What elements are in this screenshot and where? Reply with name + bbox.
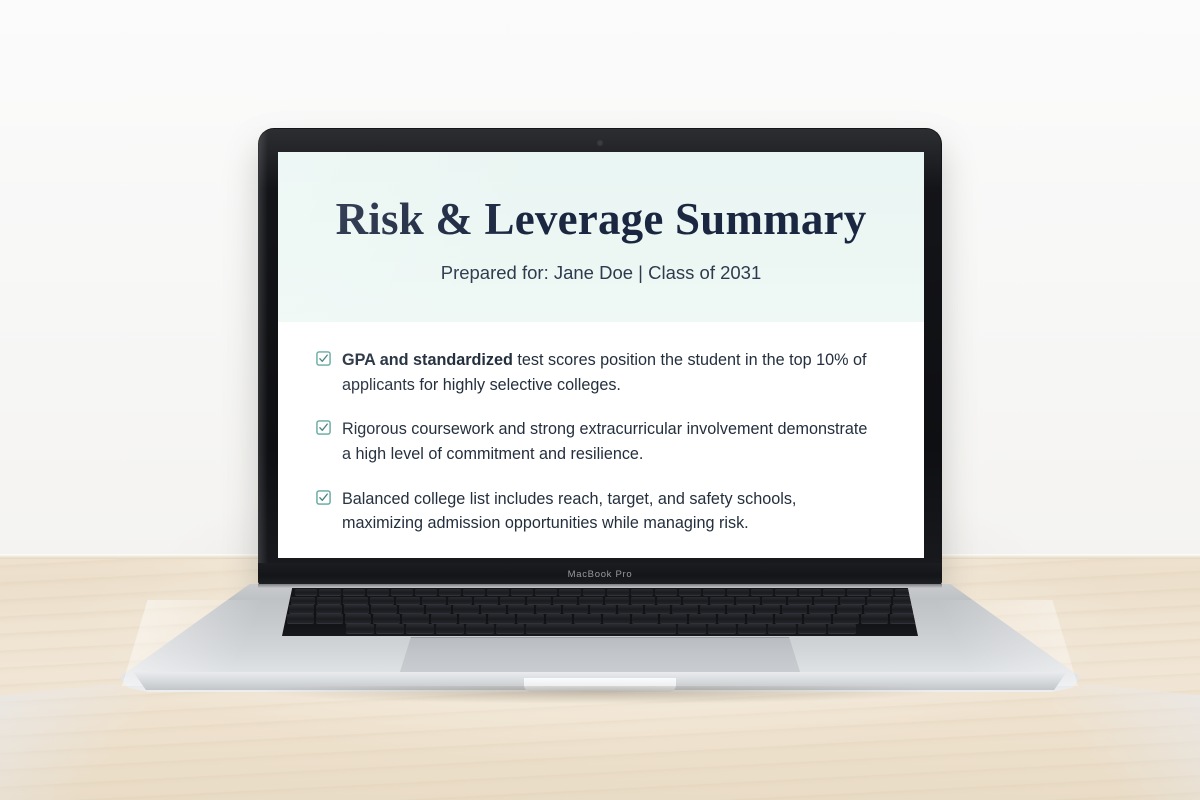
keyboard-key[interactable]: [689, 614, 716, 623]
keyboard-key[interactable]: [861, 614, 888, 623]
checkbox-checked-icon: [316, 490, 331, 505]
keyboard-key[interactable]: [436, 624, 464, 633]
keyboard-key[interactable]: [867, 597, 891, 605]
list-item-text: Balanced college list includes reach, ta…: [342, 487, 868, 536]
keyboard-key[interactable]: [508, 605, 533, 613]
keyboard-key[interactable]: [583, 589, 605, 595]
slide-header: Risk & Leverage Summary Prepared for: Ja…: [278, 152, 924, 322]
keyboard-key[interactable]: [700, 605, 725, 613]
keyboard-key[interactable]: [453, 605, 478, 613]
keyboard-key[interactable]: [710, 597, 734, 605]
keyboard-key[interactable]: [751, 589, 773, 595]
brand-label: MacBook Pro: [568, 569, 633, 580]
keyboard-key[interactable]: [718, 614, 745, 623]
keyboard-key[interactable]: [727, 589, 749, 595]
keyboard-key[interactable]: [463, 589, 485, 595]
keyboard-key[interactable]: [553, 597, 577, 605]
keyboard-key[interactable]: [672, 605, 697, 613]
keyboard[interactable]: [282, 588, 918, 636]
keyboard-key[interactable]: [590, 605, 615, 613]
keyboard-key[interactable]: [291, 597, 315, 605]
keyboard-key[interactable]: [736, 597, 760, 605]
keyboard-key[interactable]: [474, 597, 498, 605]
keyboard-key[interactable]: [399, 605, 424, 613]
keyboard-key[interactable]: [517, 614, 544, 623]
laptop-presentation-scene: Risk & Leverage Summary Prepared for: Ja…: [0, 0, 1200, 800]
keyboard-key[interactable]: [511, 589, 533, 595]
keyboard-key[interactable]: [536, 605, 561, 613]
slide-bullet-list: GPA and standardized test scores positio…: [278, 322, 924, 558]
keyboard-key[interactable]: [788, 597, 812, 605]
keyboard-row: [282, 605, 918, 613]
keyboard-key[interactable]: [738, 624, 766, 633]
list-item: GPA and standardized test scores positio…: [316, 348, 868, 397]
keyboard-key[interactable]: [823, 589, 845, 595]
list-item-text: GPA and standardized test scores positio…: [342, 348, 868, 397]
keyboard-key[interactable]: [346, 624, 374, 633]
keyboard-key[interactable]: [804, 614, 831, 623]
list-item: Rigorous coursework and strong extracurr…: [316, 417, 868, 466]
keyboard-key[interactable]: [496, 624, 524, 633]
keyboard-key[interactable]: [782, 605, 807, 613]
presentation-slide: Risk & Leverage Summary Prepared for: Ja…: [278, 152, 924, 558]
keyboard-key[interactable]: [814, 597, 838, 605]
keyboard-key[interactable]: [317, 597, 341, 605]
keyboard-key[interactable]: [295, 589, 317, 595]
keyboard-key[interactable]: [837, 605, 862, 613]
keyboard-key[interactable]: [316, 605, 341, 613]
keyboard-key[interactable]: [679, 589, 701, 595]
keyboard-key[interactable]: [618, 605, 643, 613]
keyboard-key[interactable]: [828, 624, 856, 633]
keyboard-key[interactable]: [319, 589, 341, 595]
keyboard-row: [282, 597, 918, 605]
keyboard-key[interactable]: [343, 589, 365, 595]
keyboard-key[interactable]: [439, 589, 461, 595]
keyboard-key[interactable]: [864, 605, 889, 613]
keyboard-key[interactable]: [655, 589, 677, 595]
keyboard-key[interactable]: [526, 624, 676, 633]
keyboard-key[interactable]: [391, 589, 413, 595]
keyboard-key[interactable]: [703, 589, 725, 595]
keyboard-key[interactable]: [343, 597, 367, 605]
keyboard-row: [282, 614, 918, 623]
trackpad[interactable]: [398, 637, 802, 678]
keyboard-key[interactable]: [415, 589, 437, 595]
keyboard-key[interactable]: [402, 614, 429, 623]
list-item-bold-text: GPA and standardized: [342, 351, 513, 369]
page-title: Risk & Leverage Summary: [336, 196, 867, 243]
slide-subtitle: Prepared for: Jane Doe | Class of 2031: [441, 262, 762, 284]
keyboard-key[interactable]: [563, 605, 588, 613]
list-item: Balanced college list includes reach, ta…: [316, 487, 868, 536]
keyboard-key[interactable]: [466, 624, 494, 633]
keyboard-key[interactable]: [631, 589, 653, 595]
laptop-hinge: [258, 584, 942, 588]
keyboard-key[interactable]: [448, 597, 472, 605]
keyboard-key[interactable]: [678, 624, 706, 633]
keyboard-key[interactable]: [488, 614, 515, 623]
keyboard-key[interactable]: [487, 589, 509, 595]
keyboard-key[interactable]: [481, 605, 506, 613]
keyboard-key[interactable]: [406, 624, 434, 633]
keyboard-key[interactable]: [527, 597, 551, 605]
list-item-text: Rigorous coursework and strong extracurr…: [342, 417, 868, 466]
keyboard-key[interactable]: [727, 605, 752, 613]
keyboard-key[interactable]: [840, 597, 864, 605]
keyboard-key[interactable]: [683, 597, 707, 605]
checkbox-checked-icon: [316, 420, 331, 435]
keyboard-key[interactable]: [762, 597, 786, 605]
keyboard-key[interactable]: [607, 589, 629, 595]
bottom-bezel: MacBook Pro: [258, 563, 942, 586]
keyboard-key[interactable]: [809, 605, 834, 613]
keyboard-key[interactable]: [376, 624, 404, 633]
laptop-screen[interactable]: Risk & Leverage Summary Prepared for: Ja…: [278, 152, 924, 558]
keyboard-key[interactable]: [847, 589, 869, 595]
keyboard-key[interactable]: [708, 624, 736, 633]
keyboard-key[interactable]: [500, 597, 524, 605]
keyboard-key[interactable]: [755, 605, 780, 613]
keyboard-key[interactable]: [396, 597, 420, 605]
keyboard-key[interactable]: [289, 605, 314, 613]
keyboard-key[interactable]: [603, 614, 630, 623]
keyboard-key[interactable]: [422, 597, 446, 605]
keyboard-key[interactable]: [775, 614, 802, 623]
keyboard-key[interactable]: [631, 597, 655, 605]
keyboard-key[interactable]: [657, 597, 681, 605]
keyboard-key[interactable]: [645, 605, 670, 613]
base-contact-shadow: [140, 686, 1060, 708]
keyboard-key[interactable]: [632, 614, 659, 623]
keyboard-key[interactable]: [371, 605, 396, 613]
keyboard-key[interactable]: [574, 614, 601, 623]
keyboard-key[interactable]: [459, 614, 486, 623]
keyboard-key[interactable]: [798, 624, 826, 633]
keyboard-key[interactable]: [426, 605, 451, 613]
keyboard-key[interactable]: [605, 597, 629, 605]
keyboard-row: [282, 589, 918, 595]
keyboard-key[interactable]: [367, 589, 389, 595]
laptop: Risk & Leverage Summary Prepared for: Ja…: [0, 0, 1200, 800]
checkbox-checked-icon: [316, 351, 331, 366]
keyboard-key[interactable]: [660, 614, 687, 623]
keyboard-key[interactable]: [370, 597, 394, 605]
keyboard-key[interactable]: [344, 605, 369, 613]
keyboard-key[interactable]: [546, 614, 573, 623]
keyboard-key[interactable]: [799, 589, 821, 595]
keyboard-key[interactable]: [768, 624, 796, 633]
lid-left-sheen: [258, 128, 268, 586]
camera-dot-icon: [598, 141, 602, 145]
keyboard-key[interactable]: [431, 614, 458, 623]
keyboard-key[interactable]: [833, 614, 860, 623]
keyboard-key[interactable]: [373, 614, 400, 623]
keyboard-key[interactable]: [579, 597, 603, 605]
keyboard-row: [282, 624, 918, 633]
keyboard-key[interactable]: [535, 589, 557, 595]
keyboard-key[interactable]: [871, 589, 893, 595]
keyboard-key[interactable]: [747, 614, 774, 623]
keyboard-key[interactable]: [559, 589, 581, 595]
keyboard-key[interactable]: [316, 614, 343, 623]
keyboard-key[interactable]: [345, 614, 372, 623]
keyboard-key[interactable]: [775, 589, 797, 595]
